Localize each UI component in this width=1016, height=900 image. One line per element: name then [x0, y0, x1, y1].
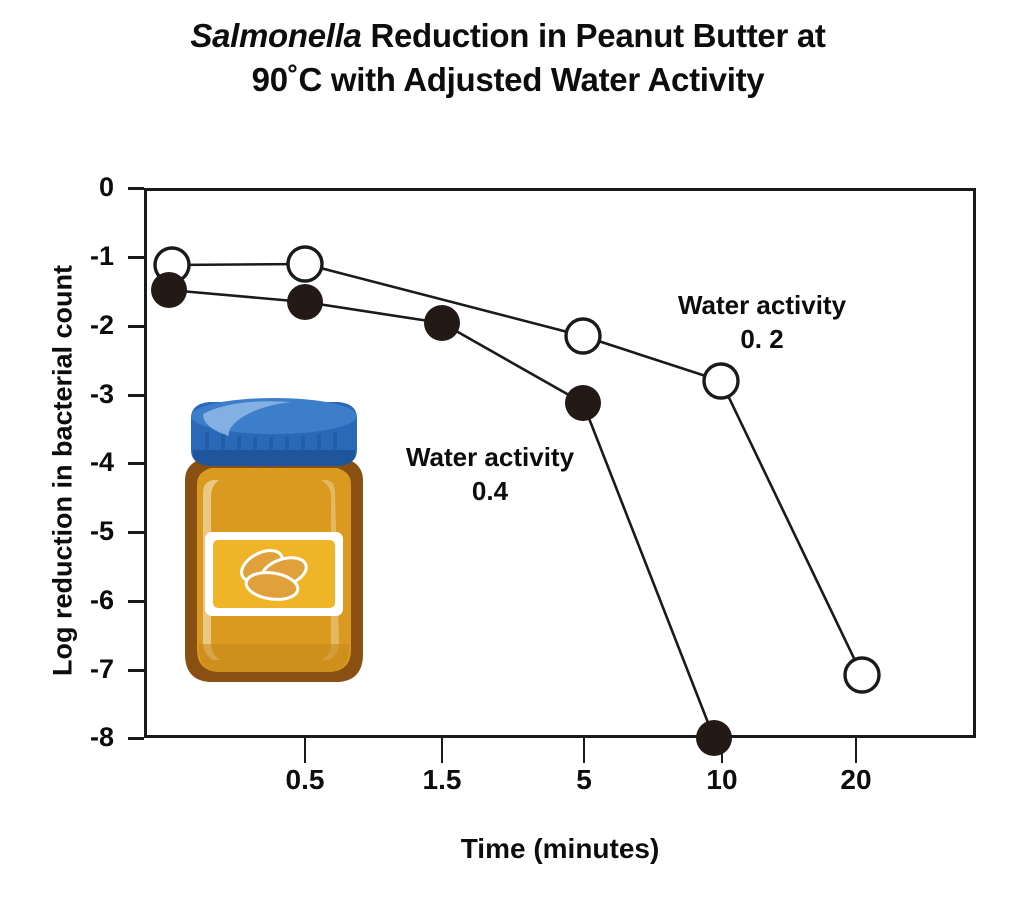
data-point-open[interactable] — [288, 247, 322, 281]
data-point-open[interactable] — [704, 364, 738, 398]
x-tick-mark — [855, 738, 857, 763]
annotation-value-line2: 0. 2 — [612, 322, 912, 356]
data-point-open[interactable] — [845, 658, 879, 692]
x-tick-mark — [441, 738, 443, 763]
y-tick-mark — [128, 394, 144, 397]
series-annotation-water-activity-04: Water activity 0.4 — [340, 440, 640, 508]
y-tick-mark — [128, 737, 144, 740]
y-tick-label: -3 — [42, 381, 114, 408]
y-tick-label: -6 — [42, 587, 114, 614]
data-point-filled[interactable] — [565, 385, 601, 421]
annotation-value-line2: 0.4 — [340, 474, 640, 508]
y-tick-label: 0 — [42, 174, 114, 201]
x-tick-label: 20 — [796, 766, 916, 794]
y-tick-mark — [128, 187, 144, 190]
x-tick-mark — [583, 738, 585, 763]
x-axis-title: Time (minutes) — [144, 833, 976, 865]
chart-figure: Salmonella Reduction in Peanut Butter at… — [0, 0, 1016, 900]
y-tick-label: -1 — [42, 243, 114, 270]
x-tick-mark — [304, 738, 306, 763]
annotation-label-line1: Water activity — [678, 290, 846, 320]
series-annotation-water-activity-02: Water activity 0. 2 — [612, 288, 912, 356]
x-tick-label: 0.5 — [245, 766, 365, 794]
y-tick-mark — [128, 600, 144, 603]
data-point-open[interactable] — [566, 319, 600, 353]
y-tick-mark — [128, 462, 144, 465]
y-tick-mark — [128, 669, 144, 672]
x-tick-label: 5 — [524, 766, 644, 794]
chart-title-species: Salmonella — [190, 17, 361, 54]
data-point-filled[interactable] — [696, 720, 732, 756]
annotation-label-line1: Water activity — [406, 442, 574, 472]
data-point-filled[interactable] — [287, 284, 323, 320]
data-point-filled[interactable] — [424, 305, 460, 341]
y-tick-mark — [128, 531, 144, 534]
y-tick-label: -8 — [42, 724, 114, 751]
chart-title: Salmonella Reduction in Peanut Butter at… — [0, 14, 1016, 102]
peanut-butter-jar-illustration — [163, 392, 385, 692]
y-tick-label: -5 — [42, 518, 114, 545]
y-tick-label: -2 — [42, 312, 114, 339]
data-point-filled[interactable] — [151, 272, 187, 308]
x-tick-label: 1.5 — [382, 766, 502, 794]
x-tick-label: 10 — [662, 766, 782, 794]
y-tick-label: -4 — [42, 449, 114, 476]
y-tick-label: -7 — [42, 656, 114, 683]
chart-title-line2: 90˚C with Adjusted Water Activity — [252, 61, 765, 98]
chart-title-line1-rest: Reduction in Peanut Butter at — [362, 17, 826, 54]
y-tick-mark — [128, 256, 144, 259]
y-tick-mark — [128, 325, 144, 328]
